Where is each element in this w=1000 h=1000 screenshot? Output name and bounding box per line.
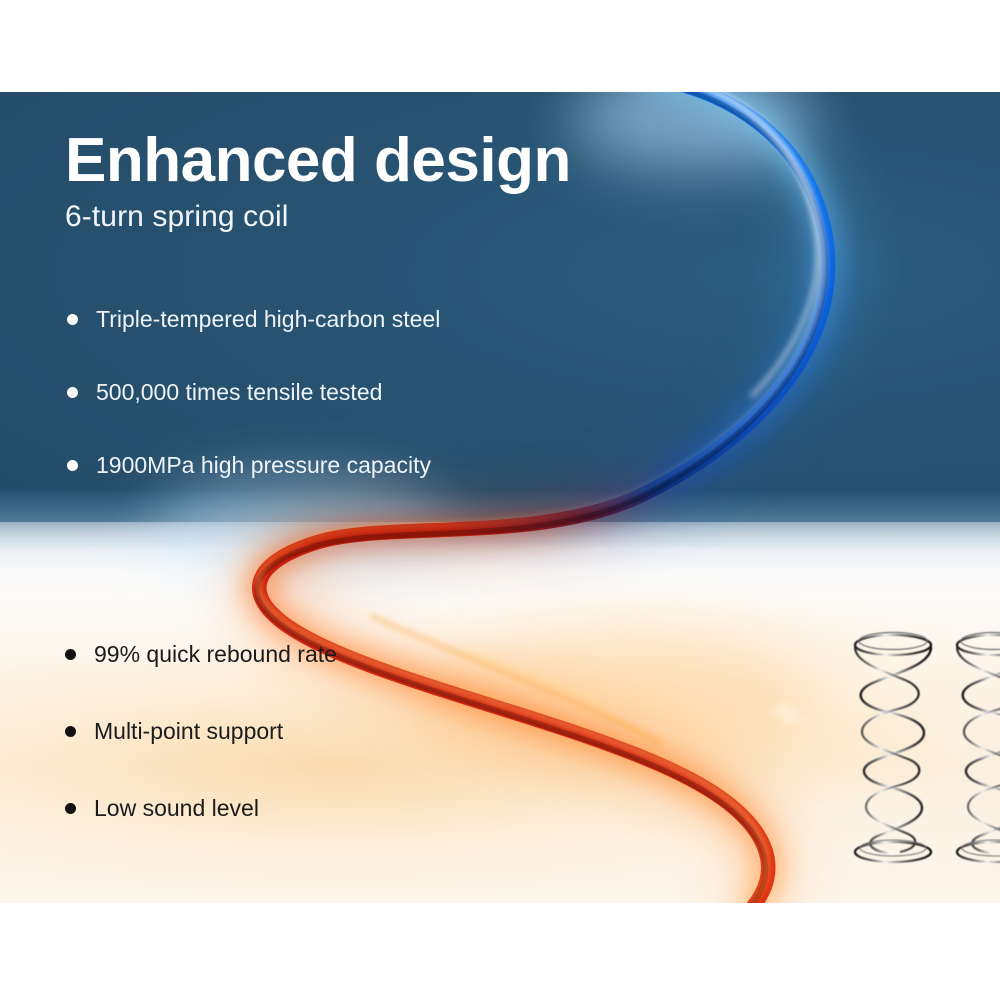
bullet-dot-icon bbox=[67, 387, 78, 398]
bullet-dot-icon bbox=[67, 314, 78, 325]
list-item-label: Triple-tempered high-carbon steel bbox=[96, 306, 440, 332]
hero-text-block: Enhanced design 6-turn spring coil bbox=[65, 128, 685, 235]
top-white-margin bbox=[0, 0, 1000, 92]
product-feature-poster: Enhanced design 6-turn spring coil Tripl… bbox=[0, 0, 1000, 1000]
page-subtitle: 6-turn spring coil bbox=[65, 199, 685, 235]
list-item-label: 500,000 times tensile tested bbox=[96, 379, 382, 405]
list-item-label: 1900MPa high pressure capacity bbox=[96, 452, 431, 478]
list-item: 99% quick rebound rate bbox=[62, 640, 532, 669]
list-item-label: Low sound level bbox=[94, 795, 259, 821]
list-item: 1900MPa high pressure capacity bbox=[64, 451, 584, 480]
list-item: 500,000 times tensile tested bbox=[64, 378, 584, 407]
lower-feature-list: 99% quick rebound rate Multi-point suppo… bbox=[62, 640, 532, 870]
bottom-white-margin bbox=[0, 903, 1000, 1000]
list-item: Low sound level bbox=[62, 794, 532, 823]
bullet-dot-icon bbox=[65, 803, 76, 814]
list-item-label: Multi-point support bbox=[94, 718, 283, 744]
page-title: Enhanced design bbox=[65, 128, 685, 193]
list-item: Triple-tempered high-carbon steel bbox=[64, 305, 584, 334]
bullet-dot-icon bbox=[67, 460, 78, 471]
list-item: Multi-point support bbox=[62, 717, 532, 746]
list-item-label: 99% quick rebound rate bbox=[94, 641, 337, 667]
bullet-dot-icon bbox=[65, 649, 76, 660]
bullet-dot-icon bbox=[65, 726, 76, 737]
upper-feature-list: Triple-tempered high-carbon steel 500,00… bbox=[64, 305, 584, 523]
